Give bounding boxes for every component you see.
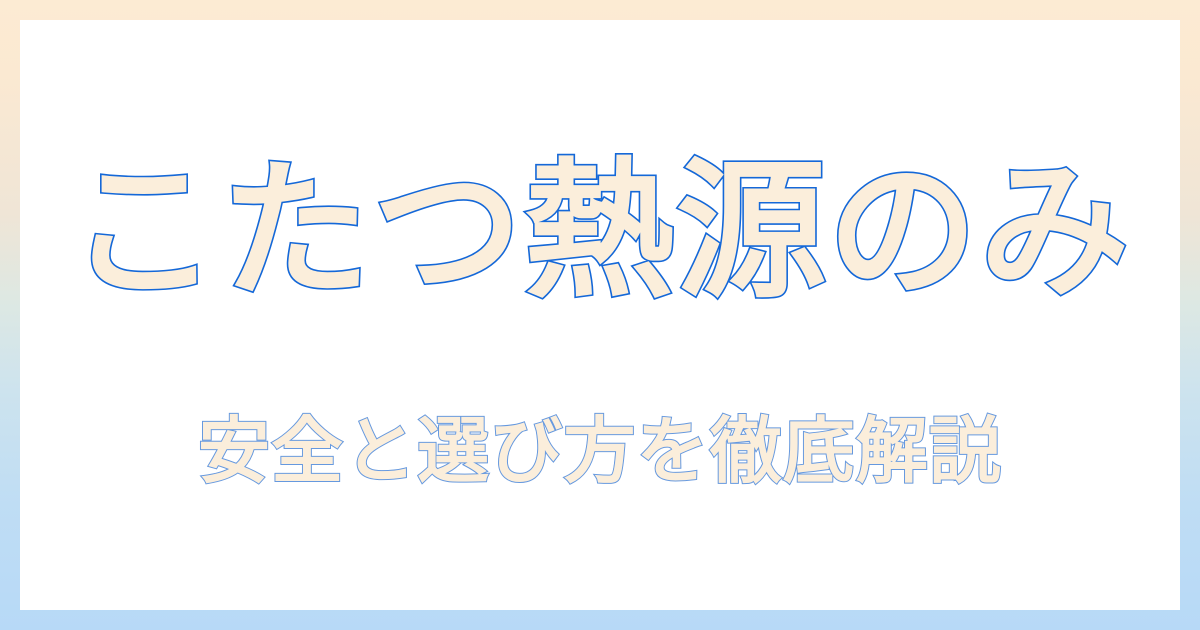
white-card: こたつ熱源のみ 安全と選び方を徹底解説 <box>20 20 1180 610</box>
page-title: こたつ熱源のみ <box>20 148 1180 316</box>
subtitle-block: 安全と選び方を徹底解説 <box>20 408 1180 494</box>
ogp-banner: こたつ熱源のみ 安全と選び方を徹底解説 <box>0 0 1200 630</box>
title-block: こたつ熱源のみ <box>20 148 1180 316</box>
page-subtitle: 安全と選び方を徹底解説 <box>20 408 1180 494</box>
